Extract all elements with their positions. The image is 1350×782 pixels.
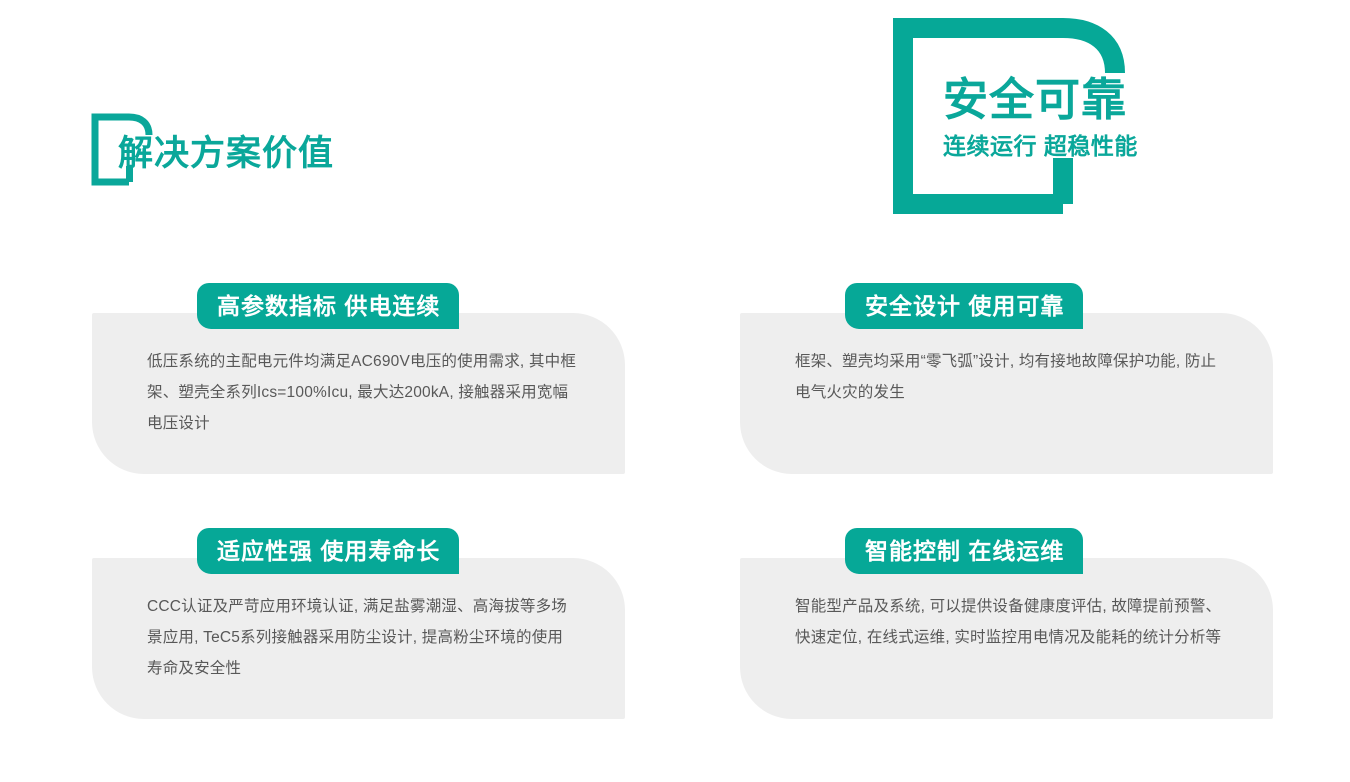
- card-body-text: 低压系统的主配电元件均满足AC690V电压的使用需求, 其中框架、塑壳全系列Ic…: [147, 346, 577, 439]
- logo-lockup: 安全可靠 连续运行 超稳性能: [893, 18, 1125, 214]
- card-body: 智能型产品及系统, 可以提供设备健康度评估, 故障提前预警、快速定位, 在线式运…: [795, 591, 1225, 653]
- card-body-text: 智能型产品及系统, 可以提供设备健康度评估, 故障提前预警、快速定位, 在线式运…: [795, 591, 1225, 653]
- logo-subtitle: 连续运行 超稳性能: [943, 127, 1173, 161]
- card-body: CCC认证及严苛应用环境认证, 满足盐雾潮湿、高海拔等多场景应用, TeC5系列…: [147, 591, 577, 684]
- card-badge-label: 高参数指标 供电连续: [217, 295, 440, 318]
- logo-text-block: 安全可靠 连续运行 超稳性能: [943, 76, 1173, 161]
- value-card: 适应性强 使用寿命长 CCC认证及严苛应用环境认证, 满足盐雾潮湿、高海拔等多场…: [92, 558, 625, 719]
- card-body: 框架、塑壳均采用“零飞弧”设计, 均有接地故障保护功能, 防止电气火灾的发生: [795, 346, 1225, 408]
- page-root: { "theme": { "teal": "#06a897", "teal_lo…: [0, 0, 1350, 782]
- value-card: 安全设计 使用可靠 框架、塑壳均采用“零飞弧”设计, 均有接地故障保护功能, 防…: [740, 313, 1273, 474]
- value-card: 高参数指标 供电连续 低压系统的主配电元件均满足AC690V电压的使用需求, 其…: [92, 313, 625, 474]
- card-badge: 安全设计 使用可靠: [845, 283, 1083, 329]
- card-badge-label: 安全设计 使用可靠: [865, 295, 1064, 318]
- logo-title: 安全可靠: [943, 76, 1173, 123]
- card-badge-label: 智能控制 在线运维: [865, 540, 1064, 563]
- card-body-text: CCC认证及严苛应用环境认证, 满足盐雾潮湿、高海拔等多场景应用, TeC5系列…: [147, 591, 577, 684]
- card-body: 低压系统的主配电元件均满足AC690V电压的使用需求, 其中框架、塑壳全系列Ic…: [147, 346, 577, 439]
- value-cards-grid: 高参数指标 供电连续 低压系统的主配电元件均满足AC690V电压的使用需求, 其…: [0, 283, 1350, 773]
- card-body-text: 框架、塑壳均采用“零飞弧”设计, 均有接地故障保护功能, 防止电气火灾的发生: [795, 346, 1225, 408]
- page-title: 解决方案价值: [118, 125, 334, 176]
- card-badge-label: 适应性强 使用寿命长: [217, 540, 440, 563]
- card-row-1: 高参数指标 供电连续 低压系统的主配电元件均满足AC690V电压的使用需求, 其…: [0, 283, 1350, 528]
- card-badge: 适应性强 使用寿命长: [197, 528, 459, 574]
- value-card: 智能控制 在线运维 智能型产品及系统, 可以提供设备健康度评估, 故障提前预警、…: [740, 558, 1273, 719]
- card-badge: 高参数指标 供电连续: [197, 283, 459, 329]
- section-heading: 解决方案价值: [91, 113, 511, 188]
- card-row-2: 适应性强 使用寿命长 CCC认证及严苛应用环境认证, 满足盐雾潮湿、高海拔等多场…: [0, 528, 1350, 773]
- card-badge: 智能控制 在线运维: [845, 528, 1083, 574]
